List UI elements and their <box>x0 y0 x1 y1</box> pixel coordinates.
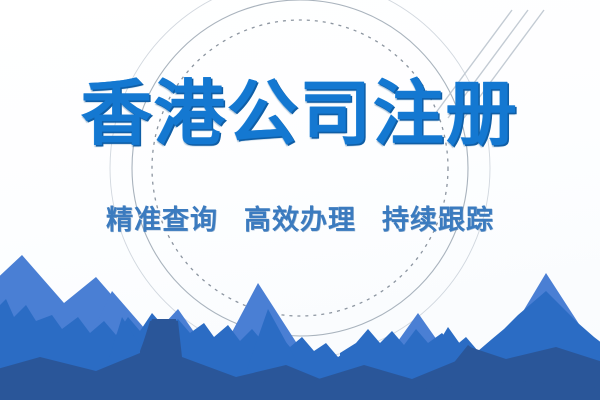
mountain-silhouette-layers <box>0 225 600 400</box>
subtitle-item-2: 高效办理 <box>244 205 356 236</box>
subtitle-item-3: 持续跟踪 <box>382 205 494 236</box>
banner-title-wrapper: 香港公司注册 <box>0 78 600 150</box>
banner-subtitle: 精准查询高效办理持续跟踪 <box>106 198 494 237</box>
front-base-band <box>0 379 600 400</box>
banner-subtitle-wrapper: 精准查询高效办理持续跟踪 <box>0 198 600 237</box>
subtitle-item-1: 精准查询 <box>106 205 218 236</box>
banner-title: 香港公司注册 <box>81 78 519 150</box>
hong-kong-company-registration-banner: 香港公司注册 精准查询高效办理持续跟踪 <box>0 0 600 400</box>
